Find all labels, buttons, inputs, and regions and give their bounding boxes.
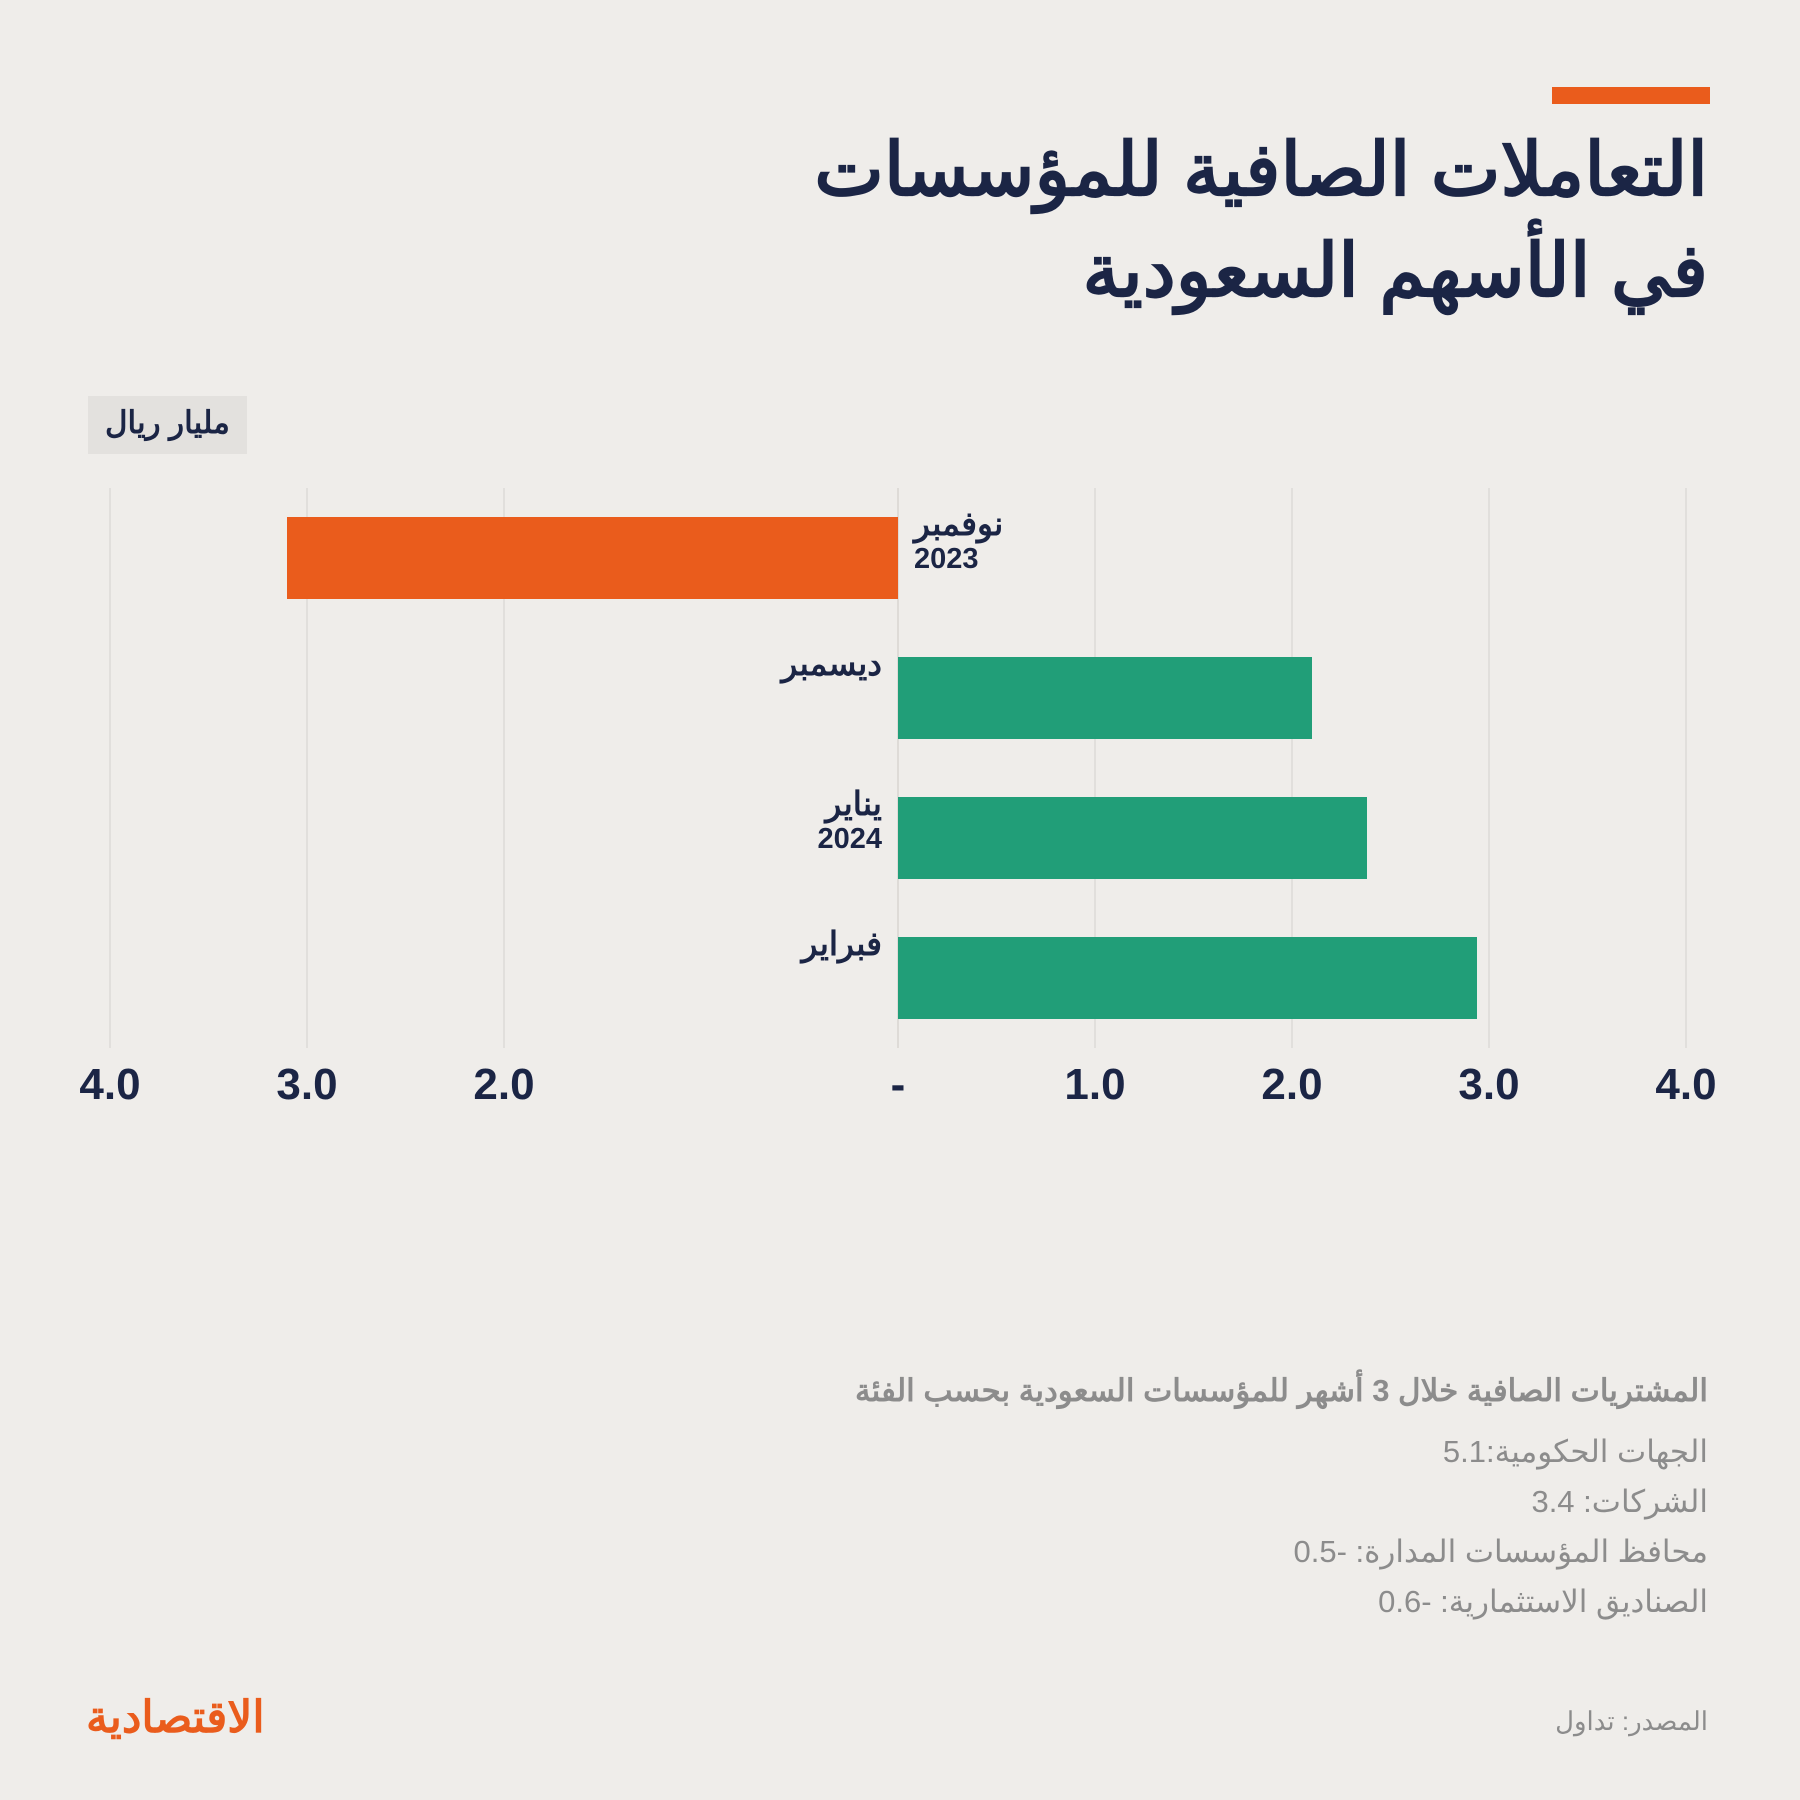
bar-row: يناير2024: [0, 768, 1800, 908]
axis-tick: 2.0: [1261, 1060, 1322, 1110]
title-line-2: في الأسهم السعودية: [458, 221, 1708, 322]
axis-tick: 1.0: [1064, 1060, 1125, 1110]
unit-badge: مليار ريال: [88, 396, 247, 454]
bar-1[interactable]: [287, 517, 898, 599]
accent-rule: [1552, 87, 1710, 104]
publisher-logo: الاقتصادية: [86, 1692, 265, 1743]
footnote-line: الصناديق الاستثمارية: -0.6: [308, 1577, 1708, 1627]
title-line-1: التعاملات الصافية للمؤسسات: [458, 120, 1708, 221]
footnote-line: الشركات: 3.4: [308, 1477, 1708, 1527]
bar-label-1: نوفمبر2023: [914, 506, 1003, 575]
footnotes: المشتريات الصافية خلال 3 أشهر للمؤسسات ا…: [308, 1368, 1708, 1627]
bar-label-4: فبراير: [801, 926, 882, 963]
bar-row: ديسمبر: [0, 628, 1800, 768]
bar-2[interactable]: [898, 657, 1312, 739]
axis-tick: 3.0: [1458, 1060, 1519, 1110]
bar-row: نوفمبر2023: [0, 488, 1800, 628]
axis-tick: 3.0: [276, 1060, 337, 1110]
footnote-line: الجهات الحكومية:5.1: [308, 1427, 1708, 1477]
page-title: التعاملات الصافية للمؤسسات في الأسهم الس…: [458, 120, 1708, 321]
footnote-line: محافظ المؤسسات المدارة: -0.5: [308, 1527, 1708, 1577]
bar-label-2: ديسمبر: [781, 646, 882, 683]
bar-chart: نوفمبر2023ديسمبريناير2024فبراير: [0, 488, 1800, 1048]
chart-plot-area: نوفمبر2023ديسمبريناير2024فبراير: [0, 488, 1800, 1048]
axis-tick: 4.0: [79, 1060, 140, 1110]
bar-row: فبراير: [0, 908, 1800, 1048]
axis-tick: 2.0: [473, 1060, 534, 1110]
bar-label-year: 2023: [914, 543, 1003, 575]
axis-tick: -: [891, 1060, 906, 1110]
x-axis: 4.03.02.0-1.02.03.04.0: [0, 1048, 1800, 1128]
bar-3[interactable]: [898, 797, 1367, 879]
bar-label-year: 2024: [817, 823, 882, 855]
footnote-heading: المشتريات الصافية خلال 3 أشهر للمؤسسات ا…: [308, 1368, 1708, 1415]
source-credit: المصدر: تداول: [1555, 1706, 1708, 1737]
axis-tick: 4.0: [1655, 1060, 1716, 1110]
infographic-page: التعاملات الصافية للمؤسسات في الأسهم الس…: [0, 0, 1800, 1800]
bar-4[interactable]: [898, 937, 1477, 1019]
bar-label-3: يناير2024: [817, 786, 882, 855]
